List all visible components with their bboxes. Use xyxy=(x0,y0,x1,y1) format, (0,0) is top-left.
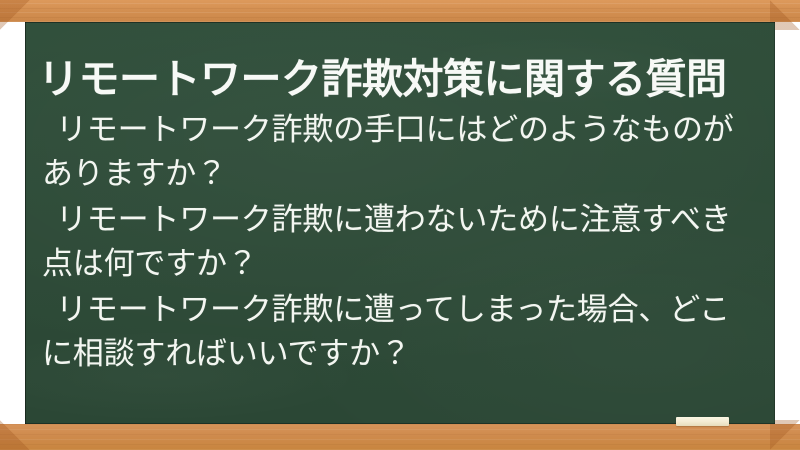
question-item: リモートワーク詐欺の手口にはどのようなものがありますか？ xyxy=(42,108,758,196)
chalkboard-slide: リモートワーク詐欺対策に関する質問 リモートワーク詐欺の手口にはどのようなものが… xyxy=(0,0,800,450)
frame-corner-bottom-left xyxy=(0,420,30,450)
question-item: リモートワーク詐欺に遭わないために注意すべき点は何ですか？ xyxy=(42,198,758,286)
frame-rail-bottom xyxy=(0,424,800,450)
slide-title: リモートワーク詐欺対策に関する質問 xyxy=(38,57,762,101)
question-list: リモートワーク詐欺の手口にはどのようなものがありますか？ リモートワーク詐欺に遭… xyxy=(42,108,758,378)
chalkboard-surface: リモートワーク詐欺対策に関する質問 リモートワーク詐欺の手口にはどのようなものが… xyxy=(25,22,775,424)
chalk-stick-icon xyxy=(676,417,729,426)
frame-corner-bottom-right xyxy=(770,420,800,450)
frame-rail-top xyxy=(0,0,800,22)
question-item: リモートワーク詐欺に遭ってしまった場合、どこに相談すればいいですか？ xyxy=(42,288,758,376)
